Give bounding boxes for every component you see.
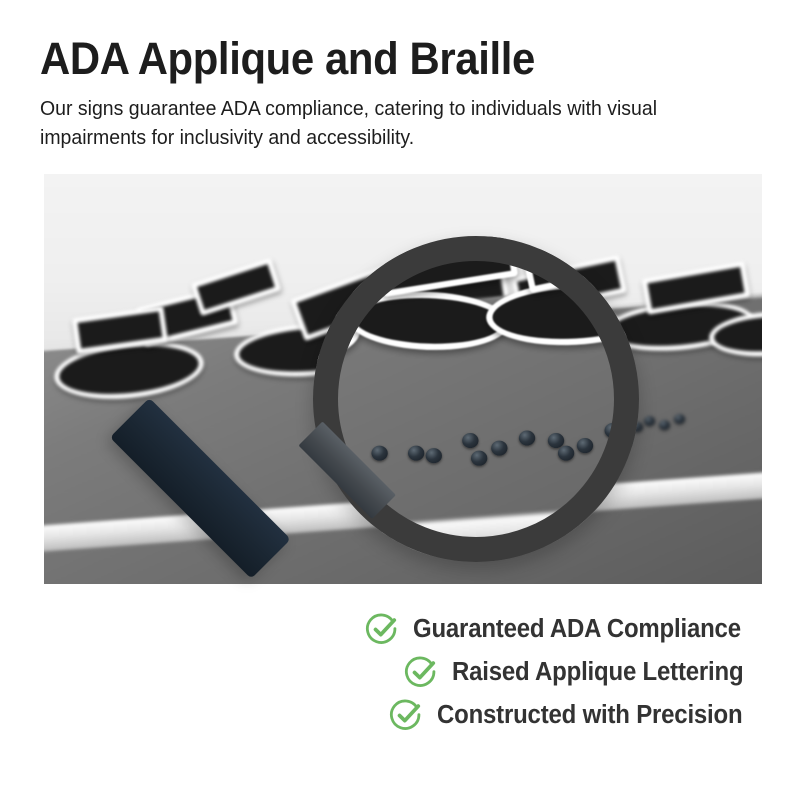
braille-dot [556,430,567,440]
page-subtitle: Our signs guarantee ADA compliance, cate… [40,94,762,152]
braille-dot [393,436,404,446]
braille-dot [632,422,643,432]
check-circle-icon [365,612,399,646]
page-title: ADA Applique and Braille [40,34,713,84]
feature-label: Constructed with Precision [437,701,742,730]
braille-dot [465,426,476,436]
braille-dot [619,414,630,424]
braille-dot [488,432,499,442]
list-item: Guaranteed ADA Compliance [365,612,762,646]
braille-dot [604,420,615,430]
check-circle-icon [404,655,438,689]
braille-dot [644,416,655,426]
promo-card: ADA Applique and Braille Our signs guara… [0,0,804,804]
braille-dot [436,438,447,448]
braille-dot [578,418,589,428]
feature-label: Raised Applique Lettering [452,658,743,687]
braille-dot [349,442,360,452]
feature-list: Guaranteed ADA Compliance Raised Appliqu… [365,612,762,732]
braille-dot [541,436,552,446]
braille-dot [659,420,670,430]
header: ADA Applique and Braille Our signs guara… [40,34,764,152]
braille-dot [364,444,375,454]
list-item: Raised Applique Lettering [404,655,762,689]
braille-dot [674,414,685,424]
product-photo [44,174,762,584]
feature-label: Guaranteed ADA Compliance [413,615,741,644]
list-item: Constructed with Precision [389,698,762,732]
braille-dot [422,436,433,446]
check-circle-icon [389,698,423,732]
braille-dot [510,424,521,434]
braille-dots [44,174,762,584]
braille-dot [533,426,544,436]
braille-dot [472,440,483,450]
braille-dot [592,424,603,434]
